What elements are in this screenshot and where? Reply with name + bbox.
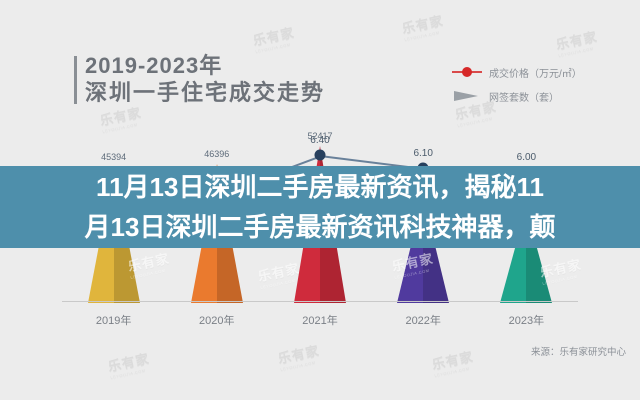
legend-item-price: 成交价格（万元/㎡） [452,62,582,82]
caption-line2: 月13日深圳二手房最新资讯科技神器，颠 [0,207,640,247]
watermark: 乐有家LEYOUJIA.COM [251,22,297,54]
line-value-label: 6.10 [413,148,432,159]
caption-text: 11月13日深圳二手房最新资讯，揭秘11 月13日深圳二手房最新资讯科技神器，颠 [0,166,640,248]
line-value-label: 6.00 [517,152,536,163]
legend-label-price: 成交价格（万元/㎡） [489,65,582,80]
bar-value-label: 45394 [101,152,126,162]
caption-line1: 11月13日深圳二手房最新资讯，揭秘11 [0,167,640,207]
x-axis-label-2019年: 2019年 [96,312,131,328]
watermark: 乐有家LEYOUJIA.COM [430,346,476,378]
chart-title: 2019-2023年 深圳一手住宅成交走势 [74,52,325,106]
x-axis-label-2020年: 2020年 [199,312,234,328]
watermark: 乐有家LEYOUJIA.COM [106,348,152,380]
x-axis-label-2023年: 2023年 [509,312,544,328]
x-axis-label-2021年: 2021年 [302,312,337,328]
chart-legend: 成交价格（万元/㎡） 网签套数（套） [452,62,582,110]
x-axis-label-2022年: 2022年 [405,312,440,328]
x-axis-line [62,301,578,302]
bar-value-label: 46396 [204,149,229,159]
chart-source: 来源：乐有家研究中心 [531,344,626,358]
line-value-label: 6.40 [310,135,329,146]
watermark: 乐有家LEYOUJIA.COM [276,340,322,372]
triangle-marker-icon [452,89,482,103]
watermark: 乐有家LEYOUJIA.COM [554,26,600,58]
chart-title-line2: 深圳一手住宅成交走势 [85,79,325,106]
screenshot-root: 乐有家LEYOUJIA.COM 乐有家LEYOUJIA.COM 乐有家LEYOU… [0,0,640,400]
watermark: 乐有家LEYOUJIA.COM [400,10,446,42]
legend-label-volume: 网签套数（套） [489,89,559,104]
chart-title-line1: 2019-2023年 [85,52,325,79]
legend-item-volume: 网签套数（套） [452,86,582,106]
line-dot-marker-icon [452,65,482,79]
line-data-point [315,150,326,161]
